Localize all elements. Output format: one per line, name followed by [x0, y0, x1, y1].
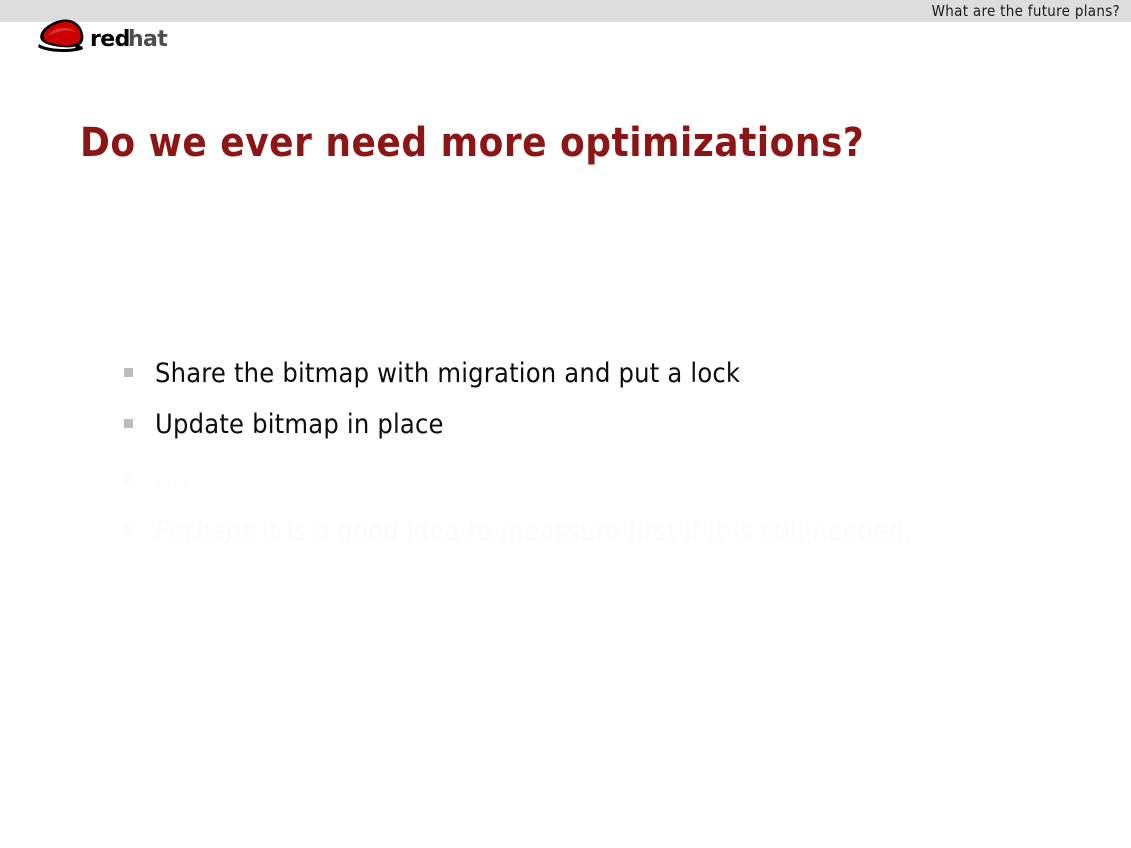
- shadowman-icon: [38, 19, 83, 52]
- page-title: Do we ever need more optimizations?: [80, 119, 864, 167]
- slide-canvas: What are the future plans? red hat D: [0, 0, 1131, 848]
- svg-text:red: red: [90, 27, 130, 52]
- redhat-wordmark-hat: hat: [128, 27, 168, 52]
- list-item: Update bitmap in place: [124, 407, 1084, 447]
- bullet-list: Share the bitmap with migration and put …: [124, 356, 1084, 565]
- redhat-logo-icon: red hat: [33, 14, 181, 52]
- bullet-square-icon: [124, 368, 133, 377]
- svg-text:hat: hat: [128, 27, 168, 52]
- slide-headline: What are the future plans?: [932, 2, 1120, 20]
- redhat-logo: red hat: [33, 14, 181, 52]
- list-item: Share the bitmap with migration and put …: [124, 356, 1084, 396]
- list-item-rest: it is a good idea to meassure first if i…: [262, 516, 912, 547]
- bullet-square-icon: [124, 526, 133, 535]
- list-item-label: Share the bitmap with migration and put …: [155, 356, 1084, 392]
- list-item-label: ....: [155, 461, 1084, 497]
- list-item-label: Perhaps it is a good idea to meassure fi…: [155, 514, 1084, 550]
- redhat-wordmark: red: [90, 27, 130, 52]
- list-item-emphasis: Perhaps: [155, 516, 254, 547]
- list-item-faded: Perhaps it is a good idea to meassure fi…: [124, 514, 1084, 554]
- list-item-label: Update bitmap in place: [155, 407, 1084, 443]
- list-item-faded: ....: [124, 461, 1084, 501]
- bullet-square-icon: [124, 419, 133, 428]
- bullet-square-icon: [124, 473, 133, 482]
